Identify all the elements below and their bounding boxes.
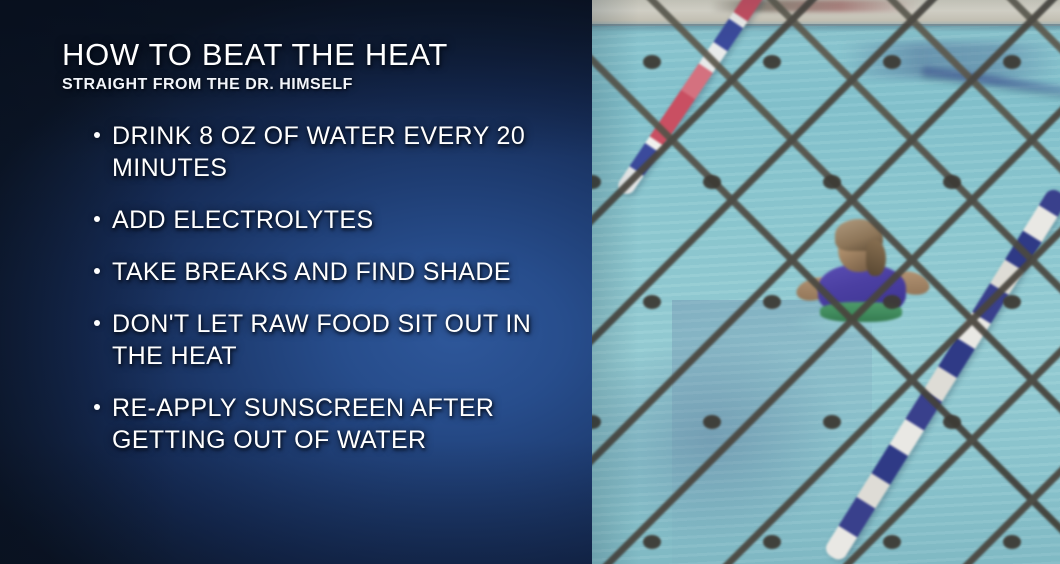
- list-item-label: TAKE BREAKS AND FIND SHADE: [112, 258, 511, 286]
- list-item: TAKE BREAKS AND FIND SHADE: [92, 256, 562, 288]
- bullet-dot-icon: [94, 216, 100, 222]
- bullet-dot-icon: [94, 404, 100, 410]
- info-panel: HOW TO BEAT THE HEAT STRAIGHT FROM THE D…: [0, 0, 592, 564]
- page-subtitle: STRAIGHT FROM THE DR. HIMSELF: [62, 75, 448, 94]
- pool-photo: [592, 0, 1060, 564]
- broadcast-graphic-screen: HOW TO BEAT THE HEAT STRAIGHT FROM THE D…: [0, 0, 1060, 564]
- title-block: HOW TO BEAT THE HEAT STRAIGHT FROM THE D…: [62, 38, 448, 94]
- list-item-label: ADD ELECTROLYTES: [112, 206, 374, 234]
- list-item: ADD ELECTROLYTES: [92, 204, 562, 236]
- list-item-label: RE-APPLY SUNSCREEN AFTER GETTING OUT OF …: [112, 394, 494, 454]
- page-title: HOW TO BEAT THE HEAT: [62, 38, 448, 72]
- panel-content: HOW TO BEAT THE HEAT STRAIGHT FROM THE D…: [0, 0, 592, 564]
- tips-list: DRINK 8 OZ OF WATER EVERY 20 MINUTES ADD…: [92, 120, 562, 476]
- bullet-dot-icon: [94, 132, 100, 138]
- list-item: DON'T LET RAW FOOD SIT OUT IN THE HEAT: [92, 308, 562, 372]
- chain-link-fence: [592, 0, 1060, 564]
- list-item: DRINK 8 OZ OF WATER EVERY 20 MINUTES: [92, 120, 562, 184]
- bullet-dot-icon: [94, 320, 100, 326]
- bullet-dot-icon: [94, 268, 100, 274]
- list-item-label: DRINK 8 OZ OF WATER EVERY 20 MINUTES: [112, 122, 525, 182]
- list-item-label: DON'T LET RAW FOOD SIT OUT IN THE HEAT: [112, 310, 531, 370]
- list-item: RE-APPLY SUNSCREEN AFTER GETTING OUT OF …: [92, 392, 562, 456]
